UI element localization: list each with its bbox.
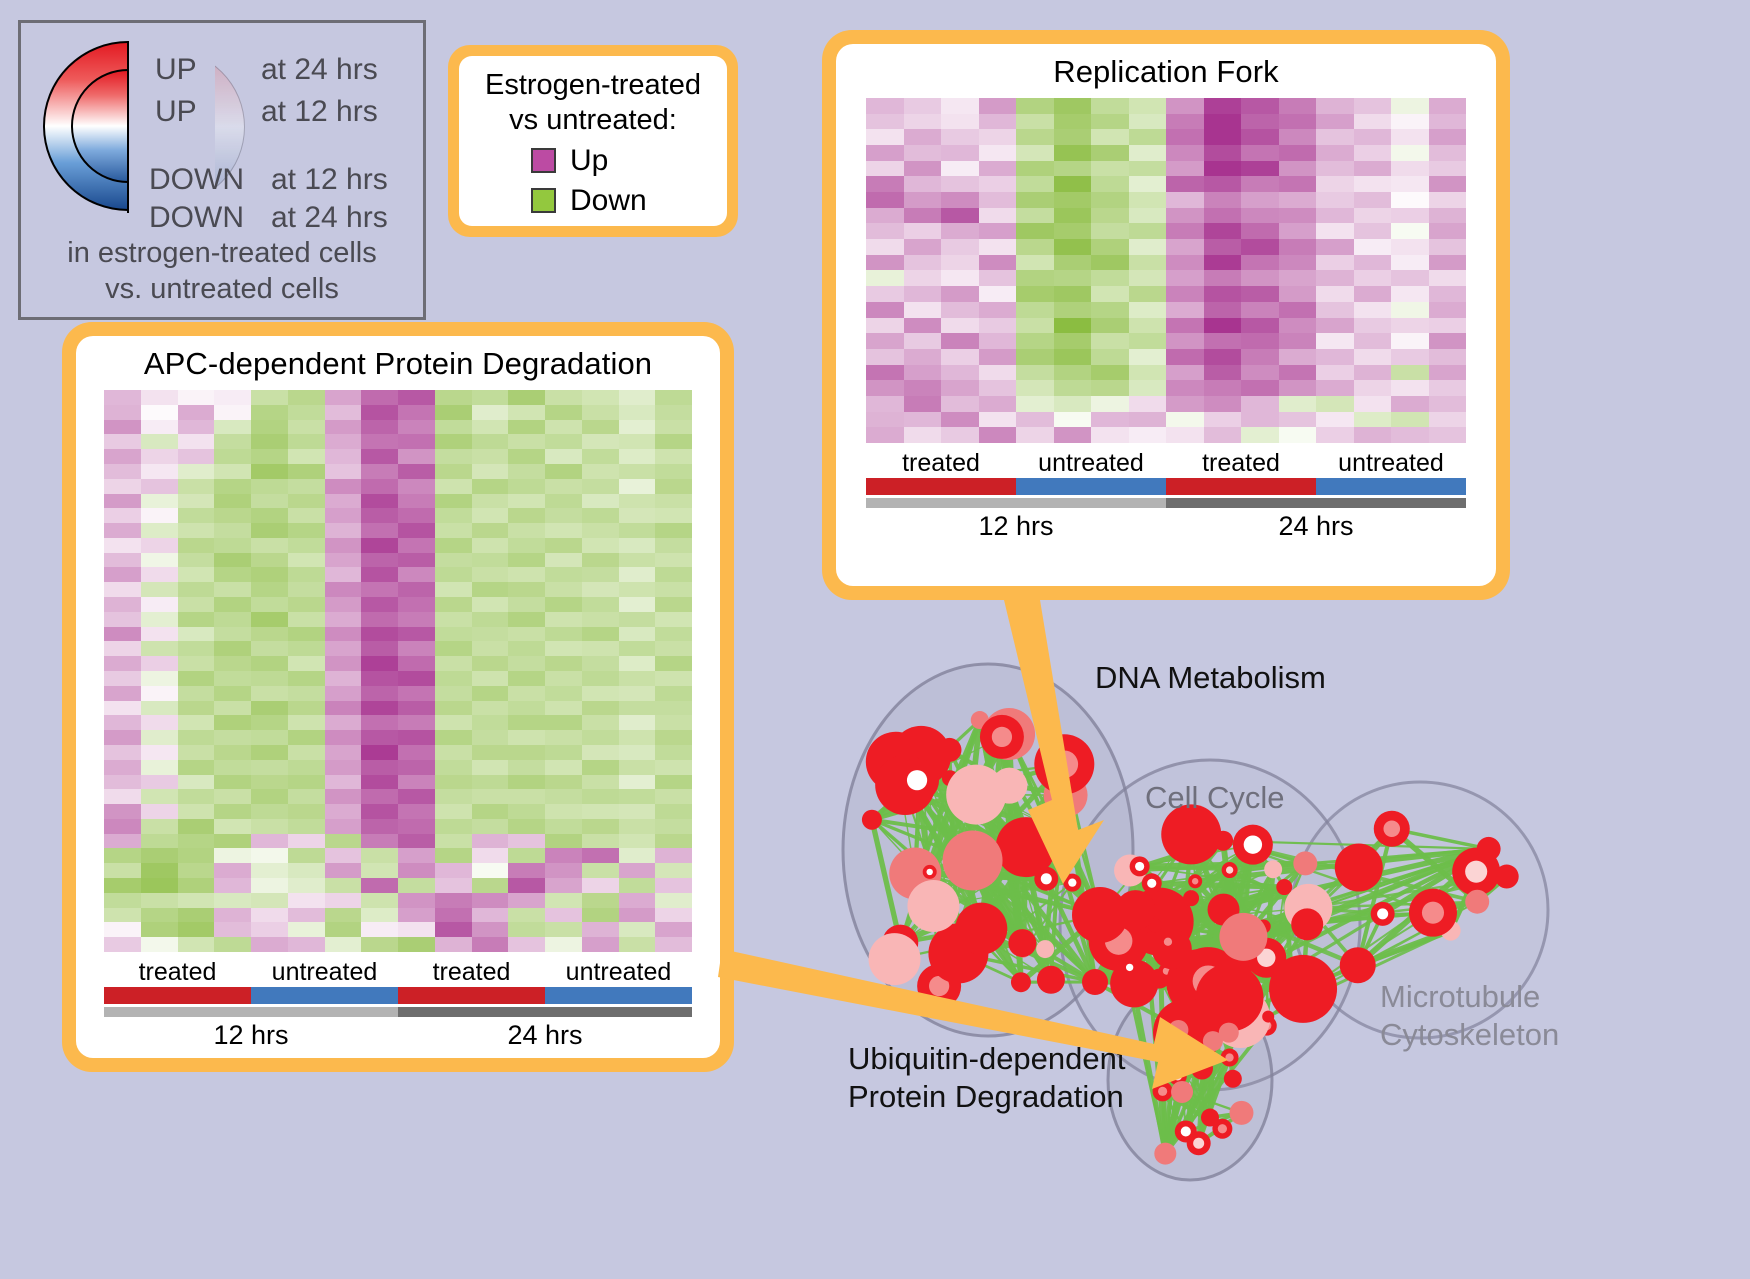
heatmap-cell [619,701,656,716]
heatmap-cell [141,863,178,878]
heatmap-cell [941,427,979,443]
heatmap-cell [361,494,398,509]
heatmap-cell [1129,129,1167,145]
heatmap-cell [655,671,692,686]
heatmap-cell [508,760,545,775]
network-node[interactable] [1264,860,1282,878]
network-node[interactable] [1224,1070,1242,1088]
heatmap-cell [141,848,178,863]
network-node[interactable] [1269,955,1337,1023]
heatmap-cell [361,922,398,937]
heatmap-cell [1166,270,1204,286]
heatmap-cell [1316,427,1354,443]
heatmap-cell [941,161,979,177]
heatmap-cell [214,804,251,819]
network-node-core [1465,861,1487,883]
heatmap-cell [619,686,656,701]
heatmap-cell [361,671,398,686]
heatmap-cell [619,464,656,479]
heatmap-cell [435,641,472,656]
heatmap-cell [1166,412,1204,428]
heatmap-cell [1091,129,1129,145]
heatmap-cell [251,420,288,435]
network-node[interactable] [862,810,882,830]
heatmap-cell [325,449,362,464]
heatmap-cell [1091,176,1129,192]
heatmap-cell [508,863,545,878]
network-node[interactable] [1072,887,1128,943]
heatmap-cell [1091,349,1129,365]
heatmap-cell [545,819,582,834]
heatmap-cell [361,538,398,553]
heatmap-cell [508,612,545,627]
heatmap-cell [325,878,362,893]
heatmap-cell [178,893,215,908]
heatmap-cell [1429,318,1467,334]
heatmap-cell [1204,365,1242,381]
network-node[interactable] [1082,969,1108,995]
heatmap-cell [655,922,692,937]
heatmap-cell [288,538,325,553]
wheel-row-0-direction: UP [155,53,197,87]
network-node[interactable] [955,903,1007,955]
heatmap-cell [545,789,582,804]
heatmap-cell [545,597,582,612]
heatmap-cell [178,420,215,435]
heatmap-cell [941,318,979,334]
heatmap-cell [1429,239,1467,255]
heatmap-cell [214,893,251,908]
heatmap-cell [104,656,141,671]
heatmap-cell [1316,412,1354,428]
heatmap-cell [435,922,472,937]
heatmap-cell [214,405,251,420]
treatment-bar-seg-1 [1016,478,1166,495]
heatmap-cell [979,412,1017,428]
heatmap-cell [545,405,582,420]
heatmap-cell [251,538,288,553]
heatmap-cell [508,908,545,923]
time-bar-seg-24hrs [1166,498,1466,508]
heatmap-cell [141,508,178,523]
heatmap-cell [1279,318,1317,334]
heatmap-cell [1279,208,1317,224]
time-label-24hrs: 24 hrs [1166,511,1466,542]
heatmap-cell [361,627,398,642]
heatmap-cell [178,745,215,760]
network-node-core [1051,842,1062,853]
heatmap-cell [1054,176,1092,192]
heatmap-cell [1204,396,1242,412]
heatmap-cell [1391,380,1429,396]
heatmap-cell [214,582,251,597]
network-node[interactable] [1154,1034,1172,1052]
network-node[interactable] [1201,1109,1219,1127]
replication-fork-heatmap [866,98,1466,443]
heatmap-cell [472,390,509,405]
heatmap-cell [655,390,692,405]
network-node[interactable] [1183,890,1199,906]
legend-swatch-down [531,188,556,213]
heatmap-cell [288,819,325,834]
heatmap-cell [1166,333,1204,349]
heatmap-cell [104,834,141,849]
heatmap-cell [435,730,472,745]
heatmap-cell [866,114,904,130]
network-node-core [1422,902,1444,924]
heatmap-cell [398,464,435,479]
heatmap-cell [214,760,251,775]
network-node-core [1218,1124,1227,1133]
heatmap-cell [325,597,362,612]
heatmap-cell [472,479,509,494]
heatmap-cell [141,612,178,627]
heatmap-cell [545,567,582,582]
heatmap-cell [1279,129,1317,145]
heatmap-cell [178,804,215,819]
heatmap-cell [1129,349,1167,365]
heatmap-cell [1166,318,1204,334]
heatmap-cell [214,656,251,671]
network-node[interactable] [1008,929,1036,957]
heatmap-cell [619,819,656,834]
heatmap-cell [655,612,692,627]
heatmap-cell [1241,145,1279,161]
network-node[interactable] [1219,913,1267,961]
heatmap-cell [398,567,435,582]
heatmap-cell [1354,380,1392,396]
heatmap-cell [979,365,1017,381]
heatmap-cell [904,286,942,302]
heatmap-cell [545,715,582,730]
heatmap-cell [398,922,435,937]
heatmap-cell [1354,161,1392,177]
heatmap-cell [545,908,582,923]
heatmap-cell [251,671,288,686]
network-node[interactable] [869,933,921,985]
heatmap-cell [288,863,325,878]
heatmap-cell [941,380,979,396]
group-label-1: untreated [1016,449,1166,478]
heatmap-cell [655,582,692,597]
heatmap-cell [619,479,656,494]
heatmap-cell [251,494,288,509]
heatmap-cell [251,612,288,627]
heatmap-cell [545,641,582,656]
heatmap-cell [655,597,692,612]
heatmap-cell [178,730,215,745]
heatmap-cell [1279,302,1317,318]
heatmap-cell [435,523,472,538]
heatmap-cell [866,286,904,302]
heatmap-cell [545,804,582,819]
heatmap-cell [866,129,904,145]
heatmap-cell [904,333,942,349]
heatmap-cell [1241,318,1279,334]
heatmap-cell [361,686,398,701]
heatmap-cell [325,775,362,790]
heatmap-cell [1429,98,1467,114]
heatmap-cell [361,730,398,745]
time-label-24hrs: 24 hrs [398,1020,692,1051]
heatmap-cell [214,922,251,937]
heatmap-cell [508,745,545,760]
heatmap-cell [1279,255,1317,271]
heatmap-cell [288,494,325,509]
network-node[interactable] [1171,1081,1193,1103]
heatmap-cell [1054,114,1092,130]
heatmap-cell [104,804,141,819]
heatmap-cell [325,390,362,405]
heatmap-cell [1204,192,1242,208]
heatmap-cell [251,715,288,730]
heatmap-cell [1429,255,1467,271]
heatmap-cell [1129,161,1167,177]
heatmap-cell [1241,286,1279,302]
group-label-3: untreated [1316,449,1466,478]
heatmap-cell [361,567,398,582]
heatmap-cell [214,612,251,627]
replication-fork-card: Replication Fork treated untreated treat… [822,30,1510,600]
heatmap-cell [1166,176,1204,192]
heatmap-cell [361,420,398,435]
heatmap-cell [545,538,582,553]
heatmap-cell [435,390,472,405]
network-node[interactable] [1465,890,1489,914]
heatmap-cell [325,434,362,449]
heatmap-cell [545,922,582,937]
wheel-footer-line-2: vs. untreated cells [21,271,423,307]
heatmap-cell [979,380,1017,396]
heatmap-cell [582,420,619,435]
heatmap-cell [508,553,545,568]
heatmap-cell [1429,333,1467,349]
heatmap-cell [1166,239,1204,255]
heatmap-cell [655,494,692,509]
heatmap-cell [1241,176,1279,192]
heatmap-cell [214,878,251,893]
heatmap-cell [141,538,178,553]
heatmap-cell [508,405,545,420]
heatmap-cell [1429,380,1467,396]
apc-degradation-heatmap [104,390,692,952]
heatmap-cell [325,420,362,435]
heatmap-cell [141,449,178,464]
heatmap-cell [104,701,141,716]
heatmap-cell [1354,98,1392,114]
heatmap-cell [1204,161,1242,177]
heatmap-cell [1016,145,1054,161]
heatmap-cell [1204,208,1242,224]
heatmap-cell [1391,239,1429,255]
heatmap-cell [104,494,141,509]
heatmap-cell [545,464,582,479]
heatmap-cell [288,420,325,435]
heatmap-cell [288,715,325,730]
network-node[interactable] [1291,908,1323,940]
heatmap-cell [619,893,656,908]
heatmap-cell [178,715,215,730]
network-node[interactable] [1011,972,1031,992]
heatmap-cell [1429,208,1467,224]
heatmap-cell [251,434,288,449]
heatmap-cell [398,686,435,701]
heatmap-cell [545,553,582,568]
network-node[interactable] [1191,1058,1213,1080]
network-node[interactable] [943,831,1003,891]
heatmap-cell [979,286,1017,302]
heatmap-cell [582,479,619,494]
network-node[interactable] [1036,940,1054,958]
heatmap-cell [141,745,178,760]
heatmap-cell [1391,318,1429,334]
heatmap-cell [619,582,656,597]
heatmap-cell [288,893,325,908]
heatmap-cell [1316,176,1354,192]
network-node[interactable] [907,880,959,932]
network-node[interactable] [1154,1143,1176,1165]
wheel-row-3-time: at 24 hrs [271,201,388,235]
heatmap-cell [545,612,582,627]
heatmap-cell [1241,412,1279,428]
network-node[interactable] [1495,865,1519,889]
heatmap-cell [398,627,435,642]
network-node[interactable] [946,765,1006,825]
heatmap-cell [178,405,215,420]
heatmap-cell [904,98,942,114]
network-node[interactable] [1196,964,1264,1032]
heatmap-cell [214,597,251,612]
heatmap-cell [655,449,692,464]
heatmap-cell [104,405,141,420]
heatmap-cell [141,908,178,923]
heatmap-cell [104,908,141,923]
heatmap-cell [1391,255,1429,271]
heatmap-cell [141,760,178,775]
heatmap-cell [1204,380,1242,396]
heatmap-cell [1091,145,1129,161]
heatmap-cell [1316,239,1354,255]
heatmap-cell [1391,270,1429,286]
heatmap-cell [1166,255,1204,271]
wheel-row-2-time: at 12 hrs [271,163,388,197]
network-node[interactable] [1168,1020,1188,1040]
heatmap-cell [435,834,472,849]
heatmap-cell [941,129,979,145]
network-node[interactable] [1340,947,1376,983]
treatment-bar-seg-3 [1316,478,1466,495]
network-node[interactable] [1037,966,1065,994]
heatmap-cell [1316,161,1354,177]
network-node[interactable] [1335,844,1383,892]
heatmap-cell [1091,318,1129,334]
heatmap-cell [941,145,979,161]
apc-degradation-time-bar [104,1007,692,1017]
heatmap-cell [619,449,656,464]
network-node[interactable] [1229,1101,1253,1125]
heatmap-cell [398,701,435,716]
heatmap-cell [1091,239,1129,255]
heatmap-cell [1316,208,1354,224]
heatmap-cell [141,420,178,435]
heatmap-cell [545,730,582,745]
heatmap-cell [1091,98,1129,114]
heatmap-cell [508,434,545,449]
heatmap-cell [472,434,509,449]
heatmap-cell [325,405,362,420]
heatmap-cell [288,508,325,523]
apc-degradation-inner: APC-dependent Protein Degradation treate… [76,336,720,1058]
heatmap-cell [141,479,178,494]
heatmap-cell [1391,161,1429,177]
heatmap-cell [398,834,435,849]
heatmap-cell [582,775,619,790]
heatmap-cell [941,239,979,255]
heatmap-cell [214,730,251,745]
heatmap-cell [214,538,251,553]
heatmap-cell [1354,192,1392,208]
heatmap-cell [904,270,942,286]
heatmap-cell [141,922,178,937]
heatmap-cell [619,863,656,878]
heatmap-cell [398,494,435,509]
heatmap-cell [398,420,435,435]
heatmap-cell [251,804,288,819]
heatmap-cell [288,760,325,775]
replication-fork-time-bar [866,498,1466,508]
heatmap-cell [141,656,178,671]
heatmap-cell [1166,349,1204,365]
heatmap-cell [655,730,692,745]
heatmap-cell [325,834,362,849]
heatmap-cell [904,114,942,130]
heatmap-cell [655,420,692,435]
heatmap-cell [941,98,979,114]
heatmap-cell [1429,145,1467,161]
heatmap-cell [361,789,398,804]
heatmap-cell [141,464,178,479]
heatmap-cell [398,405,435,420]
heatmap-cell [251,908,288,923]
heatmap-cell [866,380,904,396]
network-node[interactable] [1262,1011,1274,1023]
heatmap-cell [1091,286,1129,302]
heatmap-cell [1204,255,1242,271]
heatmap-cell [251,893,288,908]
heatmap-cell [288,834,325,849]
heatmap-cell [214,494,251,509]
heatmap-cell [1091,270,1129,286]
heatmap-cell [619,878,656,893]
heatmap-cell [141,701,178,716]
heatmap-cell [619,612,656,627]
heatmap-cell [1204,176,1242,192]
heatmap-cell [325,656,362,671]
heatmap-cell [1354,286,1392,302]
heatmap-cell [398,671,435,686]
network-node[interactable] [1203,1031,1223,1051]
heatmap-cell [941,302,979,318]
heatmap-cell [251,405,288,420]
heatmap-cell [866,239,904,255]
heatmap-cell [866,145,904,161]
network-node[interactable] [1293,851,1317,875]
heatmap-cell [1054,302,1092,318]
heatmap-cell [472,834,509,849]
treatment-bar-seg-0 [866,478,1016,495]
heatmap-cell [1129,176,1167,192]
heatmap-cell [979,396,1017,412]
